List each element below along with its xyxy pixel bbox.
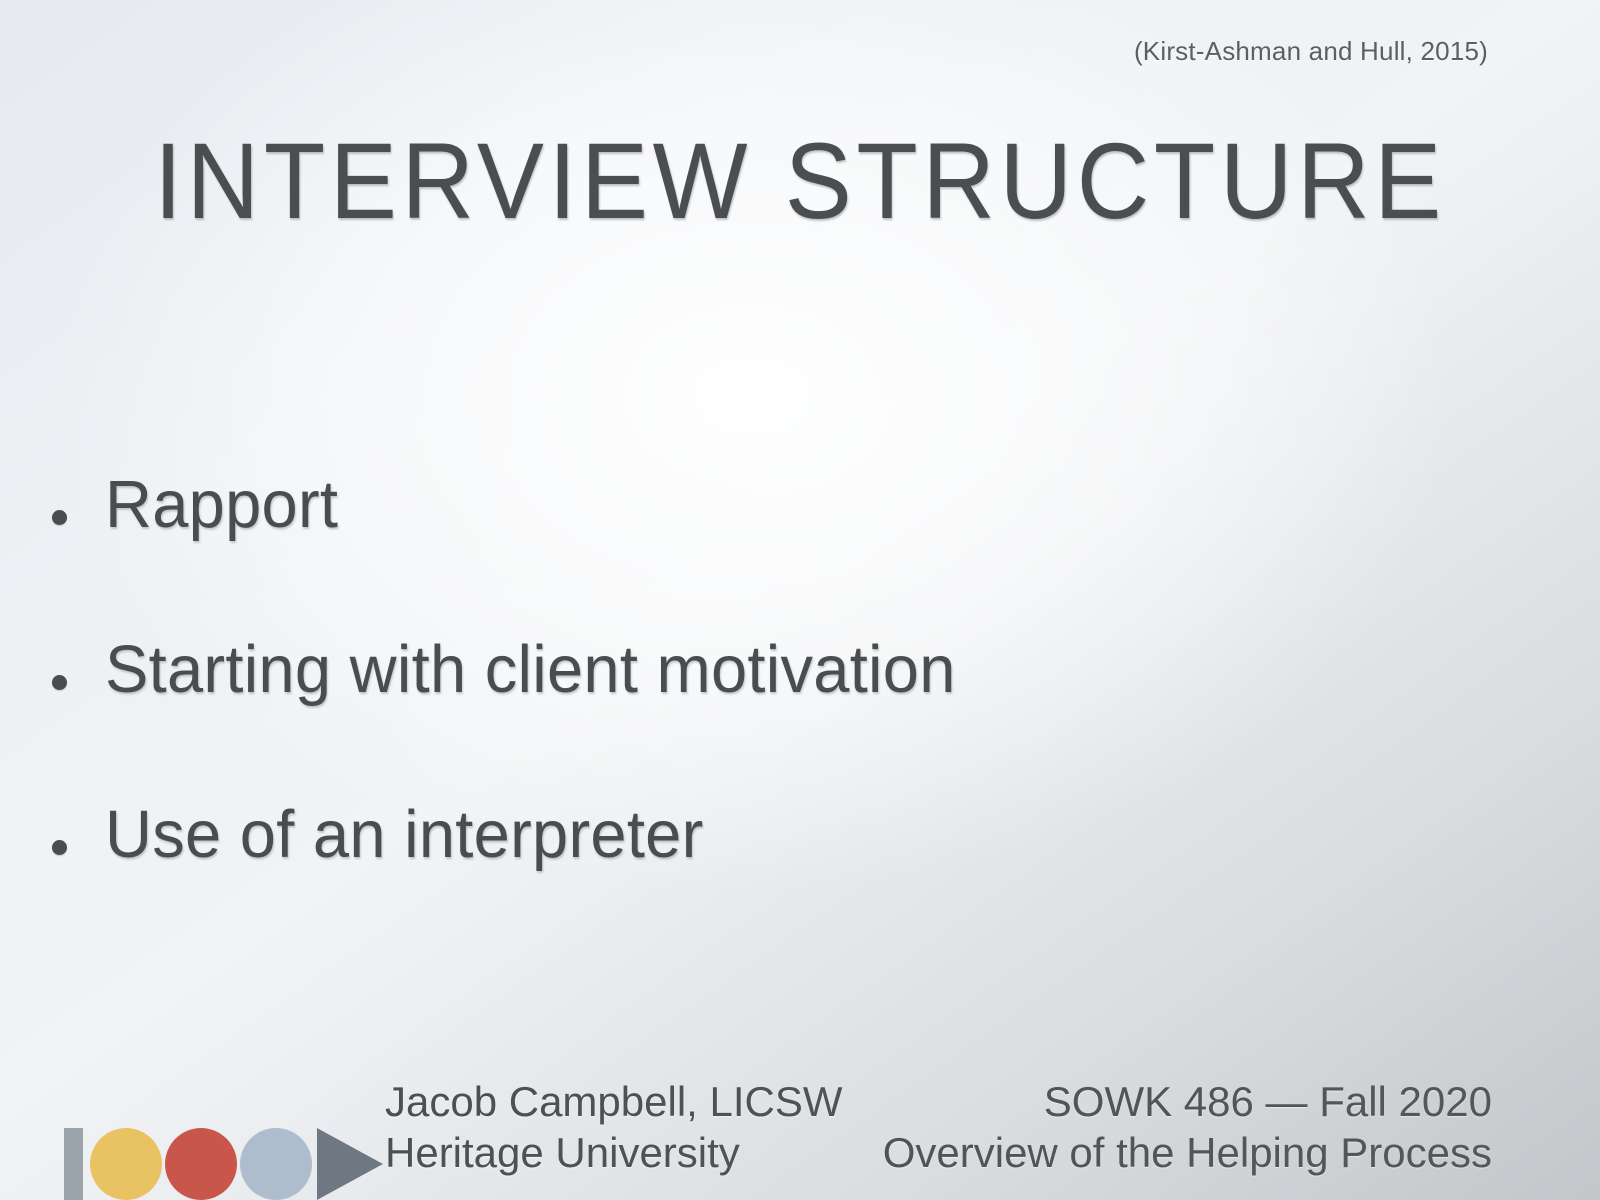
- logo-bar-shape: [64, 1128, 83, 1200]
- bullet-dot-icon: [52, 840, 67, 855]
- course-info: SOWK 486 — Fall 2020 Overview of the Hel…: [883, 1076, 1492, 1178]
- logo-circle-red: [165, 1128, 237, 1200]
- list-item: Use of an interpreter: [52, 800, 1512, 965]
- bullet-label: Rapport: [105, 470, 338, 540]
- presentation-slide: (Kirst-Ashman and Hull, 2015) INTERVIEW …: [0, 0, 1600, 1200]
- list-item: Starting with client motivation: [52, 635, 1512, 800]
- logo-circle-gold: [90, 1128, 162, 1200]
- list-item: Rapport: [52, 470, 1512, 635]
- logo-circle-blue: [240, 1128, 312, 1200]
- course-code-term: SOWK 486 — Fall 2020: [883, 1076, 1492, 1127]
- bullet-dot-icon: [52, 675, 67, 690]
- heritage-logo: [64, 1104, 383, 1200]
- bullet-dot-icon: [52, 510, 67, 525]
- source-citation: (Kirst-Ashman and Hull, 2015): [1134, 36, 1488, 67]
- presenter-institution: Heritage University: [385, 1127, 843, 1178]
- slide-title: INTERVIEW STRUCTURE: [56, 118, 1544, 243]
- lecture-topic: Overview of the Helping Process: [883, 1127, 1492, 1178]
- bullet-label: Use of an interpreter: [105, 800, 704, 870]
- bullet-list: Rapport Starting with client motivation …: [52, 470, 1512, 965]
- presenter-name: Jacob Campbell, LICSW: [385, 1076, 843, 1127]
- bullet-label: Starting with client motivation: [105, 635, 956, 705]
- presenter-info: Jacob Campbell, LICSW Heritage Universit…: [385, 1076, 843, 1178]
- logo-play-triangle-icon: [317, 1128, 383, 1200]
